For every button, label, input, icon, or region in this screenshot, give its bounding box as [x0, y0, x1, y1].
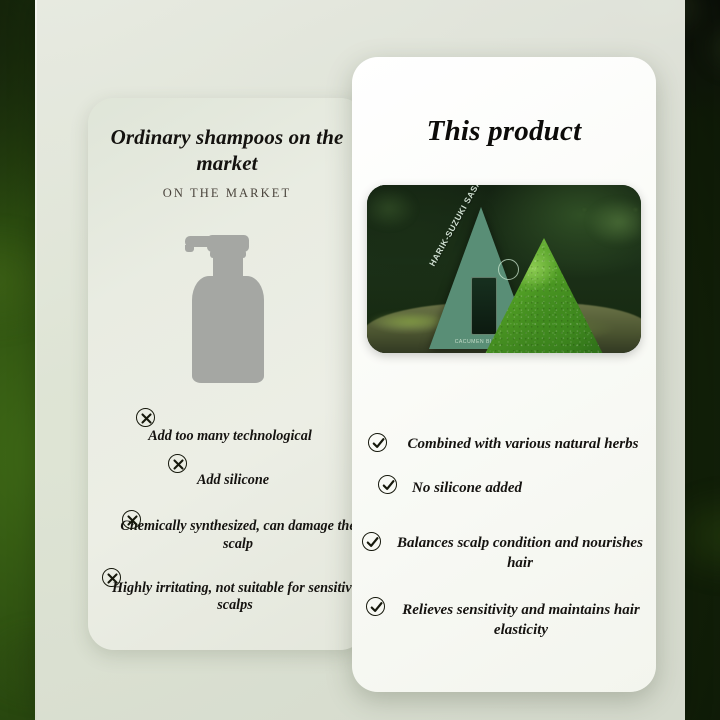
left-card-title: Ordinary shampoos on the market: [102, 124, 352, 176]
cross-circle-icon: [122, 510, 141, 529]
list-item-label: Balances scalp condition and nourishes h…: [362, 534, 650, 573]
list-item-label: Add silicone: [96, 472, 358, 490]
package-seal-stamp: [498, 259, 519, 280]
bottle-body: [192, 276, 264, 383]
list-item-label: Relieves sensitivity and maintains hair …: [362, 601, 650, 640]
list-item: Relieves sensitivity and maintains hair …: [362, 601, 650, 640]
list-item-label: Combined with various natural herbs: [362, 435, 650, 455]
package-window: [471, 277, 497, 335]
pump-bottle-silhouette-icon: [182, 228, 274, 383]
list-item-label: No silicone added: [362, 479, 650, 499]
fern-branch: [583, 209, 637, 273]
list-item: Highly irritating, not suitable for sens…: [96, 580, 358, 616]
right-card-title: This product: [362, 115, 646, 148]
list-item: Balances scalp condition and nourishes h…: [362, 534, 650, 573]
left-card-bullet-list: Add too many technological Add silicone …: [96, 428, 358, 629]
product-photo: HARIK-SUZUKI SASAMI CACUMEN BIOTAE: [367, 185, 641, 353]
list-item: Add too many technological: [96, 428, 358, 446]
check-circle-icon: [368, 433, 387, 452]
list-item: Add silicone: [96, 472, 358, 490]
cross-circle-icon: [136, 408, 155, 427]
list-item: No silicone added: [362, 479, 650, 499]
list-item: Combined with various natural herbs: [362, 435, 650, 455]
right-card-bullet-list: Combined with various natural herbs No s…: [362, 435, 650, 654]
ordinary-shampoo-card: Ordinary shampoos on the market ON THE M…: [88, 98, 366, 650]
check-circle-icon: [378, 475, 397, 494]
this-product-card: This product HARIK-SUZUKI SASAMI CACUMEN…: [352, 57, 656, 692]
check-circle-icon: [366, 597, 385, 616]
cross-circle-icon: [168, 454, 187, 473]
check-circle-icon: [362, 532, 381, 551]
cross-circle-icon: [102, 568, 121, 587]
list-item: Chemically synthesized, can damage the s…: [96, 518, 358, 554]
left-card-subtitle: ON THE MARKET: [102, 186, 352, 201]
list-item-label: Add too many technological: [96, 428, 358, 446]
list-item-label: Highly irritating, not suitable for sens…: [96, 580, 358, 616]
